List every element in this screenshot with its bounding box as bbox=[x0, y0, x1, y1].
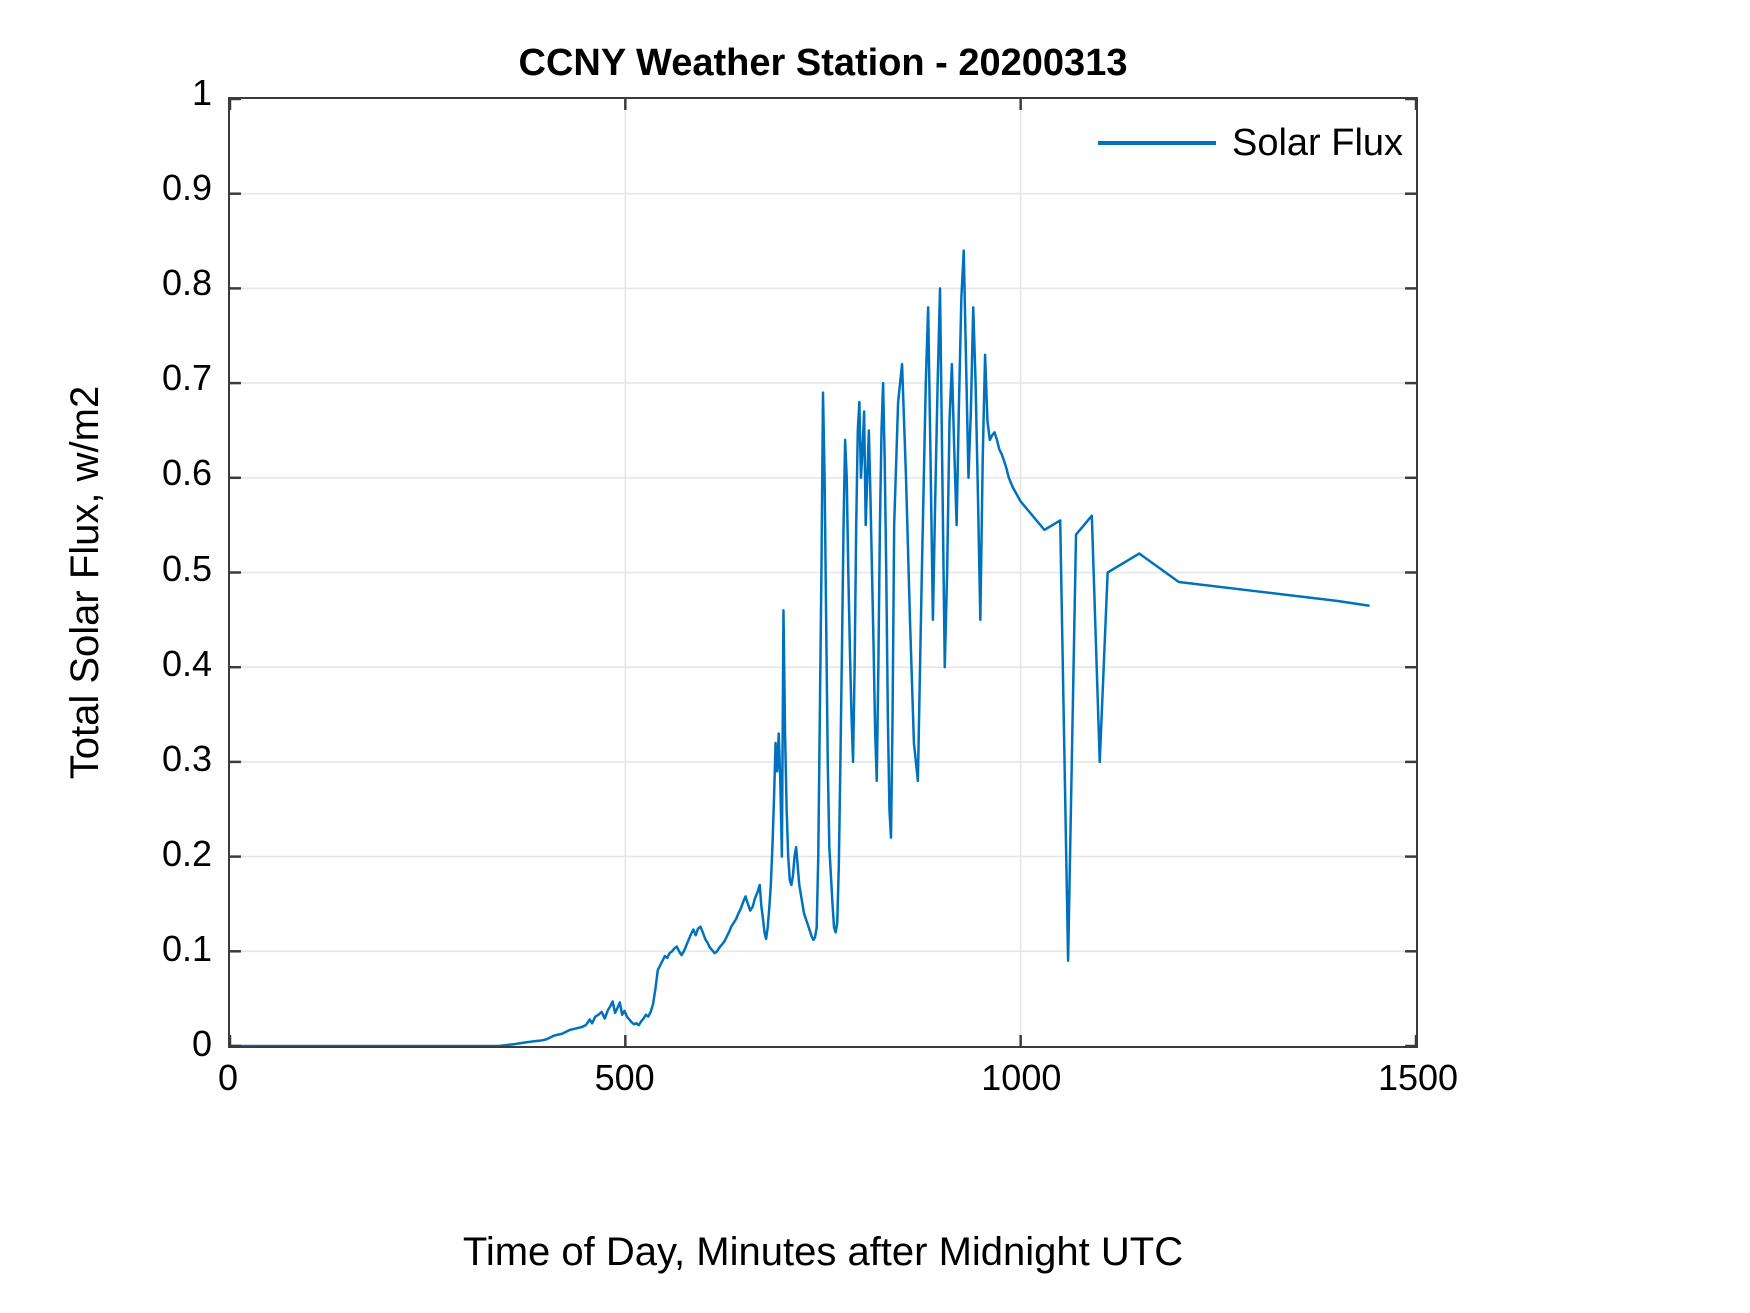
x-axis-label: Time of Day, Minutes after Midnight UTC bbox=[228, 1230, 1418, 1275]
y-tick-label: 0.1 bbox=[162, 931, 212, 967]
figure-canvas: CCNY Weather Station - 20200313 00.10.20… bbox=[0, 0, 1750, 1313]
data-series-group bbox=[230, 251, 1369, 1046]
y-tick-label: 0.4 bbox=[162, 646, 212, 682]
y-tick-label: 0.8 bbox=[162, 265, 212, 301]
legend: Solar Flux bbox=[1090, 112, 1412, 174]
x-tick-label: 1000 bbox=[981, 1060, 1061, 1096]
x-tick-labels: 050010001500 bbox=[228, 1060, 1418, 1110]
plot-area bbox=[228, 97, 1418, 1048]
chart-title: CCNY Weather Station - 20200313 bbox=[228, 42, 1418, 85]
gridlines-group bbox=[230, 99, 1416, 1046]
series-svg bbox=[230, 99, 1416, 1046]
legend-label: Solar Flux bbox=[1232, 122, 1403, 165]
x-tick-label: 500 bbox=[595, 1060, 655, 1096]
y-tick-label: 0.6 bbox=[162, 455, 212, 491]
legend-line-swatch bbox=[1098, 141, 1216, 145]
y-tick-label: 0.9 bbox=[162, 170, 212, 206]
y-axis-label: Total Solar Flux, w/m2 bbox=[63, 107, 108, 1058]
y-tick-label: 0.5 bbox=[162, 551, 212, 587]
y-tick-label: 0.3 bbox=[162, 741, 212, 777]
y-tick-labels: 00.10.20.30.40.50.60.70.80.91 bbox=[96, 97, 212, 1048]
y-tick-label: 1 bbox=[192, 75, 212, 111]
y-tick-label: 0 bbox=[192, 1026, 212, 1062]
x-tick-label: 1500 bbox=[1378, 1060, 1458, 1096]
x-tick-label: 0 bbox=[218, 1060, 238, 1096]
y-tick-label: 0.2 bbox=[162, 836, 212, 872]
data-series-line bbox=[230, 251, 1369, 1046]
y-tick-label: 0.7 bbox=[162, 360, 212, 396]
